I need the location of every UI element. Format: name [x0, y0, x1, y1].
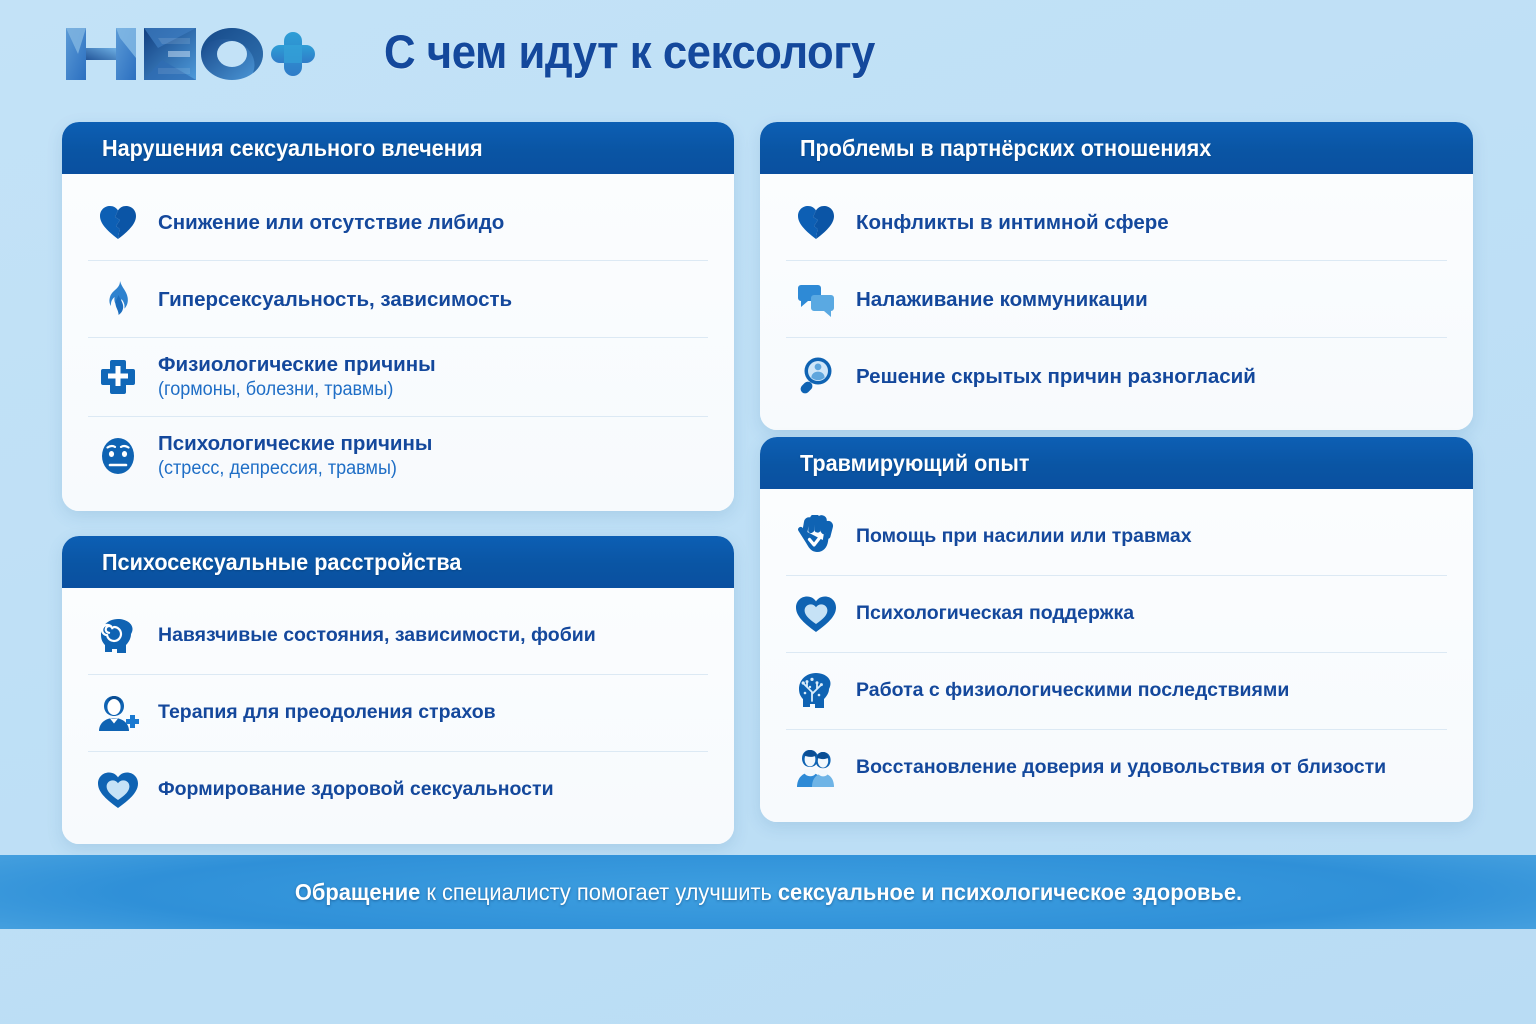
list-item[interactable]: Психологическая поддержка	[786, 576, 1447, 653]
list-item-sublabel: (стресс, депрессия, травмы)	[158, 457, 675, 481]
list-item[interactable]: Решение скрытых причин разногласий	[786, 338, 1447, 414]
brand-logo	[58, 18, 316, 90]
heart-in-heart-icon	[792, 590, 840, 638]
magnifier-person-icon	[792, 352, 840, 400]
list-item[interactable]: Навязчивые состояния, зависимости, фобии	[88, 598, 708, 675]
list-item-text: Гиперсексуальность, зависимость	[158, 287, 702, 312]
list-item-label: Физиологические причины	[158, 353, 436, 376]
card-psychosexual-disorders: Психосексуальные расстройства Навязчивые…	[62, 536, 734, 844]
medical-cross-icon	[94, 353, 142, 401]
list-item-label: Навязчивые состояния, зависимости, фобии	[158, 624, 596, 646]
couple-hug-icon	[792, 744, 840, 792]
card-body: Снижение или отсутствие либидо Гиперсекс…	[62, 174, 734, 511]
card-header: Психосексуальные расстройства	[62, 536, 734, 588]
list-item-label: Решение скрытых причин разногласий	[856, 365, 1256, 388]
list-item-label: Психологические причины	[158, 432, 432, 455]
list-item-text: Работа с физиологическими последствиями	[856, 679, 1441, 703]
footer-text-bold-end: сексуальное и психологическое здоровье.	[777, 879, 1241, 905]
list-item[interactable]: Физиологические причины (гормоны, болезн…	[88, 338, 708, 417]
footer-text-regular: к специалисту помогает улучшить	[420, 879, 778, 905]
speech-bubbles-icon	[792, 275, 840, 323]
list-item-label: Работа с физиологическими последствиями	[856, 679, 1289, 701]
heart-in-heart-icon	[94, 766, 142, 814]
list-item-text: Конфликты в интимной сфере	[856, 210, 1441, 235]
card-body: Конфликты в интимной сфере Налаживание к…	[760, 174, 1473, 430]
list-item[interactable]: Психологические причины (стресс, депресс…	[88, 417, 708, 495]
list-item-label: Восстановление доверия и удовольствия от…	[856, 756, 1386, 778]
list-item-label: Помощь при насилии или травмах	[856, 525, 1192, 547]
brain-tree-icon	[792, 667, 840, 715]
list-item-label: Психологическая поддержка	[856, 602, 1134, 624]
card-title: Нарушения сексуального влечения	[102, 135, 483, 162]
raised-hand-icon	[792, 513, 840, 561]
list-item[interactable]: Помощь при насилии или травмах	[786, 499, 1447, 576]
list-item-text: Физиологические причины (гормоны, болезн…	[158, 352, 702, 402]
broken-heart-icon	[94, 198, 142, 246]
flame-icon	[94, 275, 142, 323]
list-item[interactable]: Конфликты в интимной сфере	[786, 184, 1447, 261]
list-item-text: Терапия для преодоления страхов	[158, 701, 702, 725]
card-title: Проблемы в партнёрских отношениях	[800, 135, 1211, 162]
list-item-text: Снижение или отсутствие либидо	[158, 210, 702, 235]
list-item-label: Гиперсексуальность, зависимость	[158, 288, 512, 311]
card-traumatic-experience: Травмирующий опыт Помощь при насилии или…	[760, 437, 1473, 822]
footer-banner: Обращение к специалисту помогает улучшит…	[0, 855, 1536, 929]
card-partner-relationship-problems: Проблемы в партнёрских отношениях Конфли…	[760, 122, 1473, 430]
list-item-label: Конфликты в интимной сфере	[856, 211, 1169, 234]
list-item[interactable]: Работа с физиологическими последствиями	[786, 653, 1447, 730]
list-item-text: Решение скрытых причин разногласий	[856, 364, 1441, 389]
list-item-label: Формирование здоровой сексуальности	[158, 778, 554, 800]
list-item-text: Формирование здоровой сексуальности	[158, 778, 702, 802]
card-header: Травмирующий опыт	[760, 437, 1473, 489]
card-body: Помощь при насилии или травмах Психологи…	[760, 489, 1473, 822]
list-item[interactable]: Снижение или отсутствие либидо	[88, 184, 708, 261]
footer-text-bold-start: Обращение	[294, 879, 419, 905]
footer-text: Обращение к специалисту помогает улучшит…	[294, 879, 1241, 906]
card-body: Навязчивые состояния, зависимости, фобии…	[62, 588, 734, 844]
page-title: С чем идут к сексологу	[384, 24, 875, 79]
broken-heart-icon	[792, 198, 840, 246]
list-item-text: Налаживание коммуникации	[856, 287, 1441, 312]
header-bar: С чем идут к сексологу	[0, 0, 1536, 110]
list-item-text: Восстановление доверия и удовольствия от…	[856, 756, 1441, 780]
list-item[interactable]: Налаживание коммуникации	[786, 261, 1447, 338]
list-item-text: Психологическая поддержка	[856, 602, 1441, 626]
list-item[interactable]: Восстановление доверия и удовольствия от…	[786, 730, 1447, 806]
list-item-label: Налаживание коммуникации	[856, 288, 1148, 311]
card-sexual-desire-disorders: Нарушения сексуального влечения Снижение…	[62, 122, 734, 511]
list-item-text: Помощь при насилии или травмах	[856, 525, 1441, 549]
list-item-text: Психологические причины (стресс, депресс…	[158, 431, 702, 481]
list-item-sublabel: (гормоны, болезни, травмы)	[158, 378, 675, 402]
list-item[interactable]: Терапия для преодоления страхов	[88, 675, 708, 752]
sad-face-icon	[94, 432, 142, 480]
person-plus-icon	[94, 689, 142, 737]
head-spiral-icon	[94, 612, 142, 660]
list-item[interactable]: Формирование здоровой сексуальности	[88, 752, 708, 828]
card-header: Проблемы в партнёрских отношениях	[760, 122, 1473, 174]
card-title: Психосексуальные расстройства	[102, 549, 461, 576]
list-item[interactable]: Гиперсексуальность, зависимость	[88, 261, 708, 338]
card-header: Нарушения сексуального влечения	[62, 122, 734, 174]
neo-plus-logo-icon	[58, 18, 316, 90]
list-item-label: Снижение или отсутствие либидо	[158, 211, 504, 234]
list-item-label: Терапия для преодоления страхов	[158, 701, 496, 723]
card-title: Травмирующий опыт	[800, 450, 1029, 477]
list-item-text: Навязчивые состояния, зависимости, фобии	[158, 624, 702, 648]
